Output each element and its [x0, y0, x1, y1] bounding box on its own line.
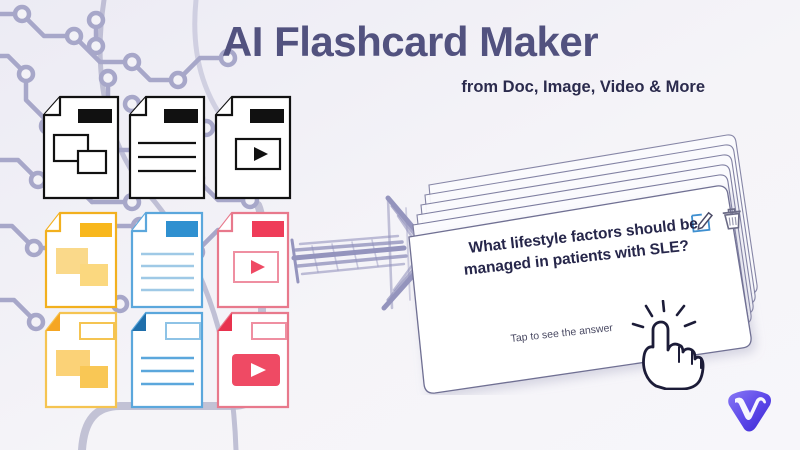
- document-video-icon: [214, 95, 292, 205]
- screenshot-root: AI Flashcard Maker from Doc, Image, Vide…: [0, 0, 800, 450]
- document-text-icon: [128, 210, 206, 315]
- document-video-icon: [214, 310, 292, 415]
- tap-hand-icon: [630, 300, 710, 390]
- document-image-icon: [42, 95, 120, 205]
- brand-logo[interactable]: [722, 383, 776, 433]
- document-video-icon: [214, 210, 292, 315]
- delete-icon[interactable]: [722, 208, 742, 229]
- document-image-icon: [42, 310, 120, 415]
- page-subtitle: from Doc, Image, Video & More: [300, 78, 705, 97]
- document-icon-grid: [0, 0, 300, 450]
- document-image-icon: [42, 210, 120, 315]
- document-text-icon: [128, 310, 206, 415]
- document-text-icon: [128, 95, 206, 205]
